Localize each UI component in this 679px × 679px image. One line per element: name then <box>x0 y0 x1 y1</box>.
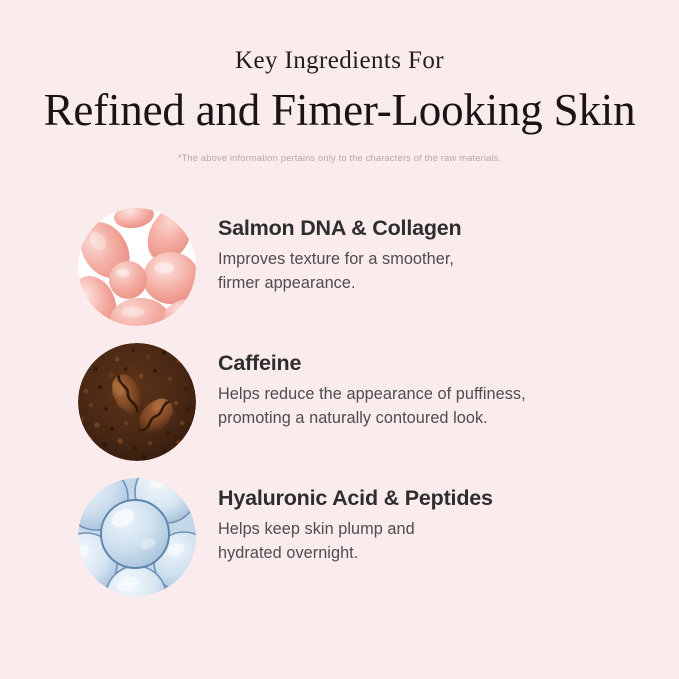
ingredient-description-line1: Helps reduce the appearance of puffiness… <box>218 385 526 403</box>
disclaimer-text: *The above information pertains only to … <box>0 152 679 163</box>
eyebrow-text: Key Ingredients For <box>0 47 679 76</box>
ingredient-title: Caffeine <box>218 351 658 377</box>
ingredient-description-line2: promoting a naturally contoured look. <box>218 409 488 427</box>
page-title: Refined and Fimer-Looking Skin <box>0 83 679 138</box>
pink-collagen-capsules-photo <box>78 208 196 326</box>
blue-water-bubbles-photo <box>78 478 196 596</box>
ingredient-description: Helps reduce the appearance of puffiness… <box>218 383 658 431</box>
ingredient-copy: Hyaluronic Acid & Peptides Helps keep sk… <box>218 486 658 566</box>
ingredient-copy: Salmon DNA & Collagen Improves texture f… <box>218 216 658 296</box>
ingredient-copy: Caffeine Helps reduce the appearance of … <box>218 351 658 431</box>
ingredient-title: Hyaluronic Acid & Peptides <box>218 486 658 512</box>
ingredient-description-line2: hydrated overnight. <box>218 544 358 562</box>
ingredient-list: Salmon DNA & Collagen Improves texture f… <box>0 200 679 605</box>
coffee-grounds-and-beans-photo <box>78 343 196 461</box>
page-header: Key Ingredients For Refined and Fimer-Lo… <box>0 0 679 163</box>
ingredient-item-hyaluronic-acid-peptides: Hyaluronic Acid & Peptides Helps keep sk… <box>0 470 679 605</box>
ingredient-description-line1: Helps keep skin plump and <box>218 520 415 538</box>
ingredient-title: Salmon DNA & Collagen <box>218 216 658 242</box>
ingredient-item-salmon-dna-collagen: Salmon DNA & Collagen Improves texture f… <box>0 200 679 335</box>
ingredient-description-line1: Improves texture for a smoother, <box>218 250 454 268</box>
ingredient-description: Improves texture for a smoother, firmer … <box>218 248 658 296</box>
ingredient-description-line2: firmer appearance. <box>218 274 356 292</box>
ingredient-item-caffeine: Caffeine Helps reduce the appearance of … <box>0 335 679 470</box>
ingredient-description: Helps keep skin plump and hydrated overn… <box>218 518 658 566</box>
